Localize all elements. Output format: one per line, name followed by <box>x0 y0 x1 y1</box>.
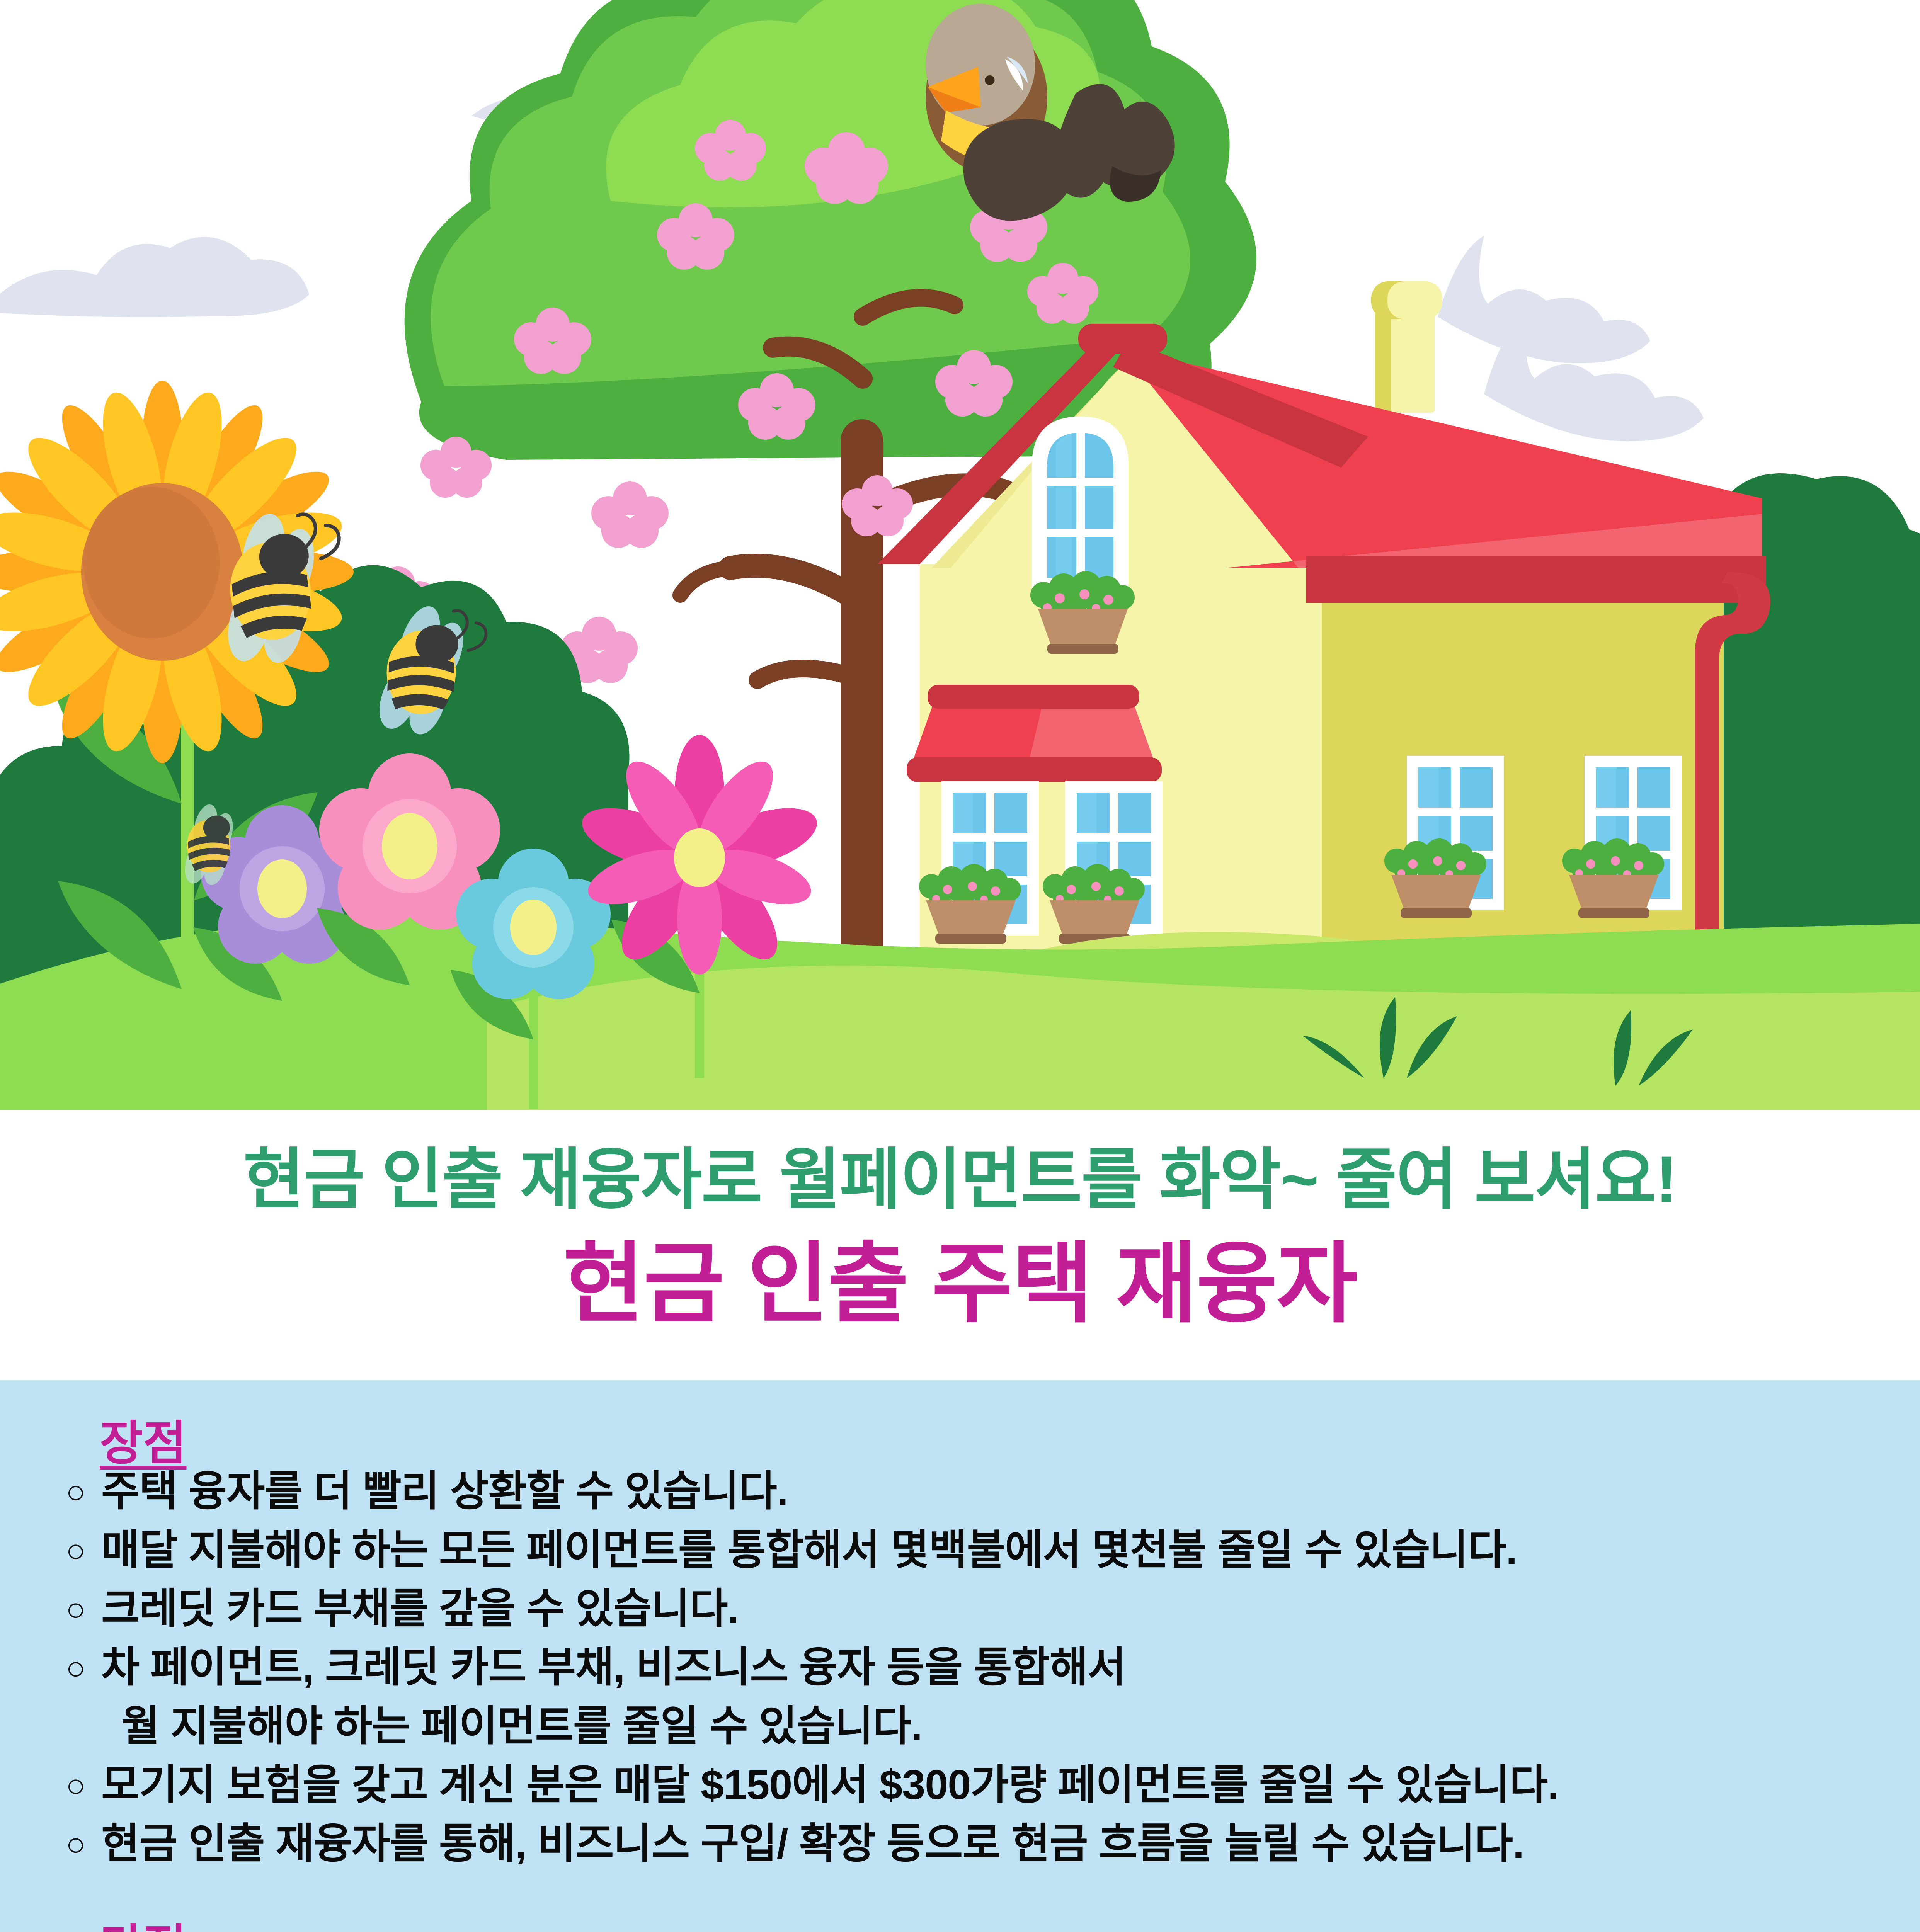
bullet-item: ○월 지불해야 하는 페이먼트를 줄일 수 있습니다. <box>66 1704 922 1748</box>
bullet-item: ○차 페이먼트, 크레딧 카드 부채, 비즈니스 융자 등을 통합해서 <box>66 1645 1126 1689</box>
hero-illustration <box>0 0 1920 1110</box>
advantages-heading: 장점 <box>100 1405 186 1473</box>
poster-subtitle: 현금 인출 재융자로 월페이먼트를 화악~ 줄여 보셔요! <box>0 1125 1920 1222</box>
bullet-marker: ○ <box>66 1821 101 1861</box>
bullet-text: 현금 인출 재융자를 통해, 비즈니스 구입/ 확장 등으로 현금 흐름을 늘릴… <box>101 1821 1524 1866</box>
bullet-marker: ○ <box>66 1587 101 1626</box>
poster-main-title: 현금 인출 주택 재융자 <box>0 1212 1920 1340</box>
bullet-text: 크레딧 카드 부채를 갚을 수 있습니다. <box>101 1587 739 1631</box>
bullet-marker: ○ <box>66 1469 101 1509</box>
bullet-text: 차 페이먼트, 크레딧 카드 부채, 비즈니스 융자 등을 통합해서 <box>101 1645 1126 1689</box>
hero-scene <box>0 0 1920 1110</box>
bullet-marker: ○ <box>66 1645 101 1685</box>
bullet-item: ○현금 인출 재융자를 통해, 비즈니스 구입/ 확장 등으로 현금 흐름을 늘… <box>66 1821 1524 1866</box>
bullet-text: 모기지 보험을 갖고 계신 분은 매달 $150에서 $300가량 페이먼트를 … <box>101 1763 1559 1807</box>
disadvantages-heading: 단점 <box>100 1909 186 1932</box>
attic-window <box>1032 417 1129 593</box>
poster-root: 현금 인출 재융자로 월페이먼트를 화악~ 줄여 보셔요! 현금 인출 주택 재… <box>0 0 1920 1932</box>
bullet-item: ○크레딧 카드 부채를 갚을 수 있습니다. <box>66 1587 739 1631</box>
content-panel: 장점 단점 ○주택 융자를 더 빨리 상환할 수 있습니다.○매달 지불해야 하… <box>0 1380 1920 1932</box>
bullet-marker: ○ <box>66 1763 101 1802</box>
bullet-item: ○매달 지불해야 하는 모든 페이먼트를 통합해서 몇백불에서 몇천불 줄일 수… <box>66 1528 1517 1572</box>
title-zone: 현금 인출 재융자로 월페이먼트를 화악~ 줄여 보셔요! 현금 인출 주택 재… <box>0 1110 1920 1380</box>
bullet-marker: ○ <box>66 1528 101 1567</box>
bullet-text: 매달 지불해야 하는 모든 페이먼트를 통합해서 몇백불에서 몇천불 줄일 수 … <box>101 1528 1517 1572</box>
bullet-item: ○모기지 보험을 갖고 계신 분은 매달 $150에서 $300가량 페이먼트를… <box>66 1763 1559 1807</box>
bullet-text: 월 지불해야 하는 페이먼트를 줄일 수 있습니다. <box>121 1704 922 1748</box>
bullet-item: ○주택 융자를 더 빨리 상환할 수 있습니다. <box>66 1469 788 1513</box>
bullet-text: 주택 융자를 더 빨리 상환할 수 있습니다. <box>101 1469 788 1513</box>
